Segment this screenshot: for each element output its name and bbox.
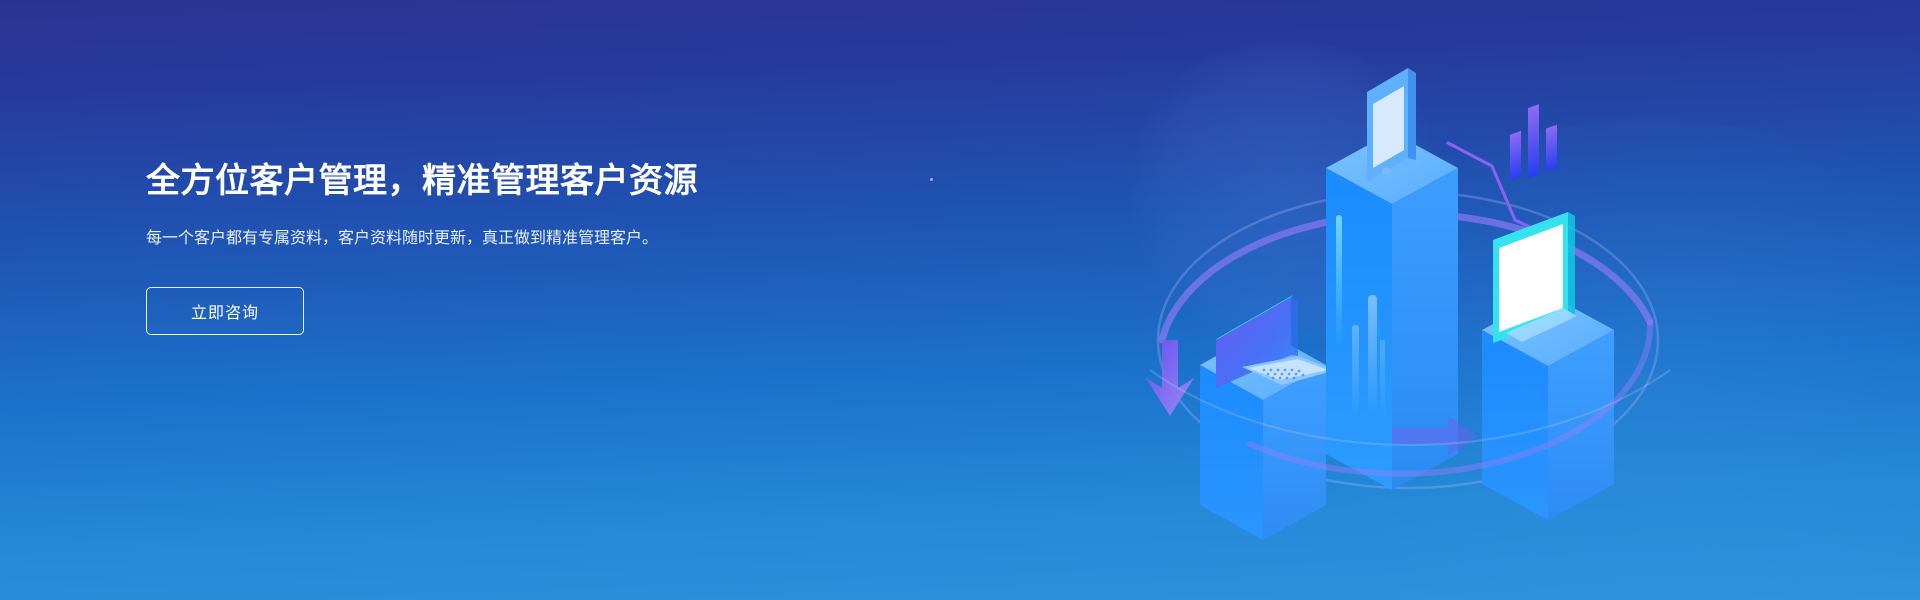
hero-illustration — [1130, 40, 1690, 560]
isometric-data-platform-graphic — [1130, 40, 1690, 560]
orbit-arrow-down-icon — [1146, 340, 1194, 416]
hero-banner: 全方位客户管理，精准管理客户资源 每一个客户都有专属资料，客户资料随时更新，真正… — [0, 0, 1920, 600]
laptop-icon — [1216, 295, 1336, 388]
bar-streak — [1352, 325, 1359, 420]
chart-bar — [1546, 125, 1557, 172]
bar-streak — [1368, 295, 1377, 415]
chart-bar — [1528, 104, 1539, 178]
bar-streak — [1380, 340, 1385, 420]
hero-subtitle: 每一个客户都有专属资料，客户资料随时更新，真正做到精准管理客户。 — [146, 226, 726, 252]
tablet-home-button-icon — [1381, 168, 1390, 174]
hero-copy-block: 全方位客户管理，精准管理客户资源 每一个客户都有专属资料，客户资料随时更新，真正… — [146, 160, 906, 335]
sparkle-dot-icon — [930, 178, 933, 181]
chart-bar — [1510, 131, 1521, 181]
consult-now-button[interactable]: 立即咨询 — [146, 287, 304, 335]
bar-streak — [1336, 215, 1342, 345]
monitor-chart — [1510, 104, 1557, 181]
page-title: 全方位客户管理，精准管理客户资源 — [146, 160, 906, 204]
